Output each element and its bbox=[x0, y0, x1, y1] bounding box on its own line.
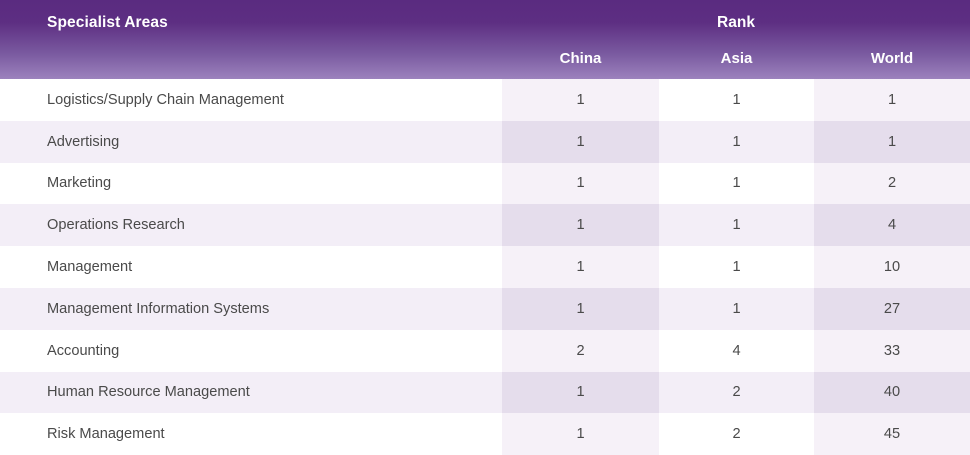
table-header: Specialist Areas Rank China Asia World bbox=[0, 0, 970, 79]
cell-specialist-area: Marketing bbox=[0, 175, 502, 191]
cell-rank-china: 1 bbox=[502, 288, 659, 330]
cell-rank-china: 1 bbox=[502, 246, 659, 288]
cell-rank-world: 27 bbox=[814, 288, 970, 330]
table-row: Human Resource Management 1 2 40 bbox=[0, 372, 970, 414]
column-header-world: World bbox=[814, 50, 970, 67]
column-header-asia: Asia bbox=[659, 50, 814, 67]
cell-rank-world: 1 bbox=[814, 121, 970, 163]
column-group-header-rank: Rank bbox=[502, 14, 970, 32]
cell-rank-asia: 2 bbox=[659, 413, 814, 455]
cell-rank-world: 45 bbox=[814, 413, 970, 455]
cell-rank-china: 2 bbox=[502, 330, 659, 372]
column-header-china: China bbox=[502, 50, 659, 67]
cell-rank-china: 1 bbox=[502, 79, 659, 121]
column-header-specialist-areas: Specialist Areas bbox=[47, 14, 168, 32]
cell-rank-asia: 1 bbox=[659, 121, 814, 163]
cell-specialist-area: Logistics/Supply Chain Management bbox=[0, 92, 502, 108]
cell-rank-world: 1 bbox=[814, 79, 970, 121]
cell-rank-world: 40 bbox=[814, 372, 970, 414]
table-row: Logistics/Supply Chain Management 1 1 1 bbox=[0, 79, 970, 121]
specialist-areas-ranking-table: Specialist Areas Rank China Asia World L… bbox=[0, 0, 970, 455]
cell-rank-china: 1 bbox=[502, 163, 659, 205]
cell-specialist-area: Human Resource Management bbox=[0, 384, 502, 400]
cell-rank-asia: 2 bbox=[659, 372, 814, 414]
cell-specialist-area: Management bbox=[0, 259, 502, 275]
table-row: Risk Management 1 2 45 bbox=[0, 413, 970, 455]
table-row: Marketing 1 1 2 bbox=[0, 163, 970, 205]
cell-specialist-area: Operations Research bbox=[0, 217, 502, 233]
cell-specialist-area: Accounting bbox=[0, 343, 502, 359]
cell-rank-world: 2 bbox=[814, 163, 970, 205]
cell-rank-china: 1 bbox=[502, 121, 659, 163]
cell-specialist-area: Advertising bbox=[0, 134, 502, 150]
table-row: Accounting 2 4 33 bbox=[0, 330, 970, 372]
cell-rank-asia: 1 bbox=[659, 79, 814, 121]
cell-rank-china: 1 bbox=[502, 204, 659, 246]
cell-rank-world: 10 bbox=[814, 246, 970, 288]
cell-rank-world: 33 bbox=[814, 330, 970, 372]
cell-rank-china: 1 bbox=[502, 413, 659, 455]
cell-rank-world: 4 bbox=[814, 204, 970, 246]
cell-rank-asia: 4 bbox=[659, 330, 814, 372]
cell-rank-china: 1 bbox=[502, 372, 659, 414]
table-row: Management Information Systems 1 1 27 bbox=[0, 288, 970, 330]
cell-specialist-area: Risk Management bbox=[0, 426, 502, 442]
table-row: Management 1 1 10 bbox=[0, 246, 970, 288]
table-row: Operations Research 1 1 4 bbox=[0, 204, 970, 246]
table-row: Advertising 1 1 1 bbox=[0, 121, 970, 163]
table-body: Logistics/Supply Chain Management 1 1 1 … bbox=[0, 79, 970, 455]
cell-specialist-area: Management Information Systems bbox=[0, 301, 502, 317]
cell-rank-asia: 1 bbox=[659, 163, 814, 205]
cell-rank-asia: 1 bbox=[659, 204, 814, 246]
cell-rank-asia: 1 bbox=[659, 288, 814, 330]
cell-rank-asia: 1 bbox=[659, 246, 814, 288]
